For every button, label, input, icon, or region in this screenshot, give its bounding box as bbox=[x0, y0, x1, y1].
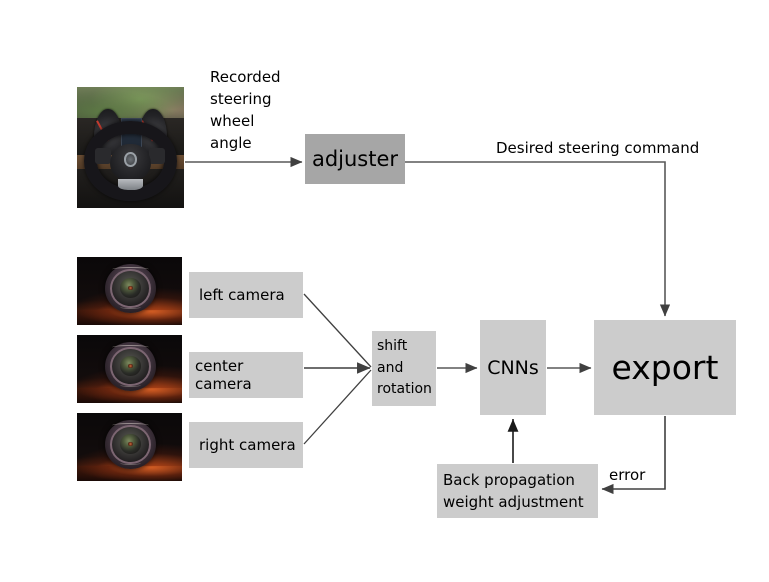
desired-steering-command-label: Desired steering command bbox=[496, 139, 699, 157]
lens-aperture bbox=[128, 364, 132, 368]
center-camera-photo bbox=[77, 335, 182, 403]
export-label: export bbox=[594, 348, 736, 387]
adjuster-node[interactable]: adjuster bbox=[305, 134, 405, 184]
lens-engraving-top bbox=[112, 267, 148, 272]
lens-glass bbox=[120, 278, 140, 298]
lens-aperture bbox=[128, 286, 132, 290]
brand-emblem-icon bbox=[124, 152, 137, 167]
lens-ring bbox=[110, 425, 150, 464]
back-propagation-node[interactable]: Back propagation weight adjustment bbox=[437, 464, 598, 518]
lens-glass bbox=[120, 356, 140, 376]
center-camera-node[interactable]: center camera bbox=[189, 352, 303, 398]
lens-barrel-icon bbox=[105, 264, 155, 313]
lens-barrel-icon bbox=[105, 420, 155, 469]
lens-glass bbox=[120, 434, 140, 454]
left-camera-node[interactable]: left camera bbox=[189, 272, 303, 318]
back-propagation-label: Back propagation weight adjustment bbox=[443, 469, 598, 514]
shift-and-rotation-label: shift and rotation bbox=[377, 336, 436, 401]
cnns-node[interactable]: CNNs bbox=[480, 320, 546, 415]
shift-and-rotation-node[interactable]: shift and rotation bbox=[372, 331, 436, 406]
center-camera-label: center camera bbox=[195, 357, 303, 393]
wire-right-camera-to-shift bbox=[304, 370, 371, 444]
wire-left-camera-to-shift bbox=[304, 294, 371, 367]
lens-engraving-top bbox=[112, 423, 148, 428]
lens-engraving-top bbox=[112, 345, 148, 350]
wheel-spoke-right bbox=[149, 148, 165, 165]
lens-barrel-icon bbox=[105, 342, 155, 391]
lens-aperture bbox=[128, 442, 132, 446]
lens-ring bbox=[110, 347, 150, 386]
lens-engraving-bottom bbox=[120, 461, 140, 465]
wheel-spoke-left bbox=[95, 148, 111, 165]
left-camera-photo bbox=[77, 257, 182, 325]
right-camera-label: right camera bbox=[199, 436, 303, 454]
adjuster-label: adjuster bbox=[305, 147, 405, 171]
wire-adjuster-to-export bbox=[405, 162, 665, 316]
wheel-bottom-trim bbox=[118, 179, 144, 190]
cnns-label: CNNs bbox=[480, 357, 546, 379]
right-camera-photo bbox=[77, 413, 182, 481]
steering-wheel-photo bbox=[77, 87, 184, 208]
left-camera-label: left camera bbox=[199, 286, 303, 304]
error-label: error bbox=[609, 466, 645, 484]
recorded-steering-wheel-angle-label: Recorded steering wheel angle bbox=[210, 66, 281, 154]
lens-engraving-bottom bbox=[120, 305, 140, 309]
diagram-canvas: Recorded steering wheel angle Desired st… bbox=[0, 0, 769, 582]
lens-ring bbox=[110, 269, 150, 308]
export-node[interactable]: export bbox=[594, 320, 736, 415]
right-camera-node[interactable]: right camera bbox=[189, 422, 303, 468]
lens-engraving-bottom bbox=[120, 383, 140, 387]
